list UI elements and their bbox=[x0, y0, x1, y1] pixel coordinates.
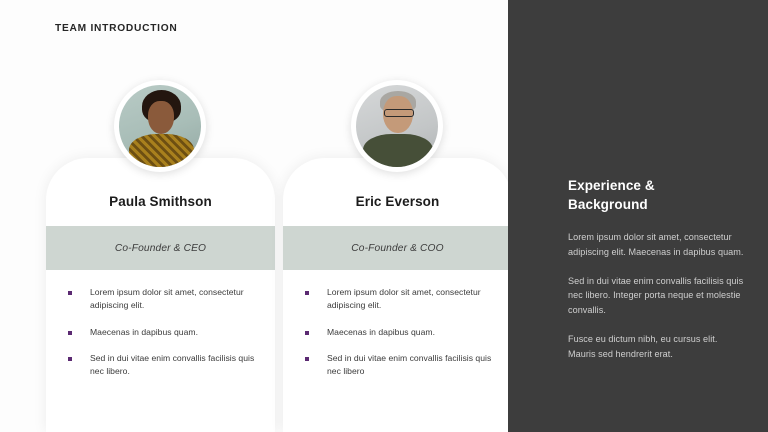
bullet-text: Maecenas in dapibus quam. bbox=[90, 326, 198, 339]
bullet-text: Maecenas in dapibus quam. bbox=[327, 326, 435, 339]
bullet-text: Lorem ipsum dolor sit amet, consectetur … bbox=[90, 286, 259, 313]
bullet-square-icon bbox=[68, 331, 72, 335]
member-card-1[interactable]: Paula Smithson Co-Founder & CEO Lorem ip… bbox=[46, 158, 275, 432]
member-bullet-list: Lorem ipsum dolor sit amet, consectetur … bbox=[64, 286, 259, 392]
list-item: Sed in dui vitae enim convallis facilisi… bbox=[301, 352, 496, 379]
panel-paragraph: Lorem ipsum dolor sit amet, consectetur … bbox=[568, 230, 746, 259]
list-item: Maecenas in dapibus quam. bbox=[64, 326, 259, 339]
list-item: Lorem ipsum dolor sit amet, consectetur … bbox=[64, 286, 259, 313]
slide-canvas: TEAM INTRODUCTION Paula Smithson Co-Foun… bbox=[0, 0, 768, 432]
bullet-square-icon bbox=[68, 357, 72, 361]
member-role-band: Co-Founder & CEO bbox=[46, 226, 275, 270]
bullet-square-icon bbox=[68, 291, 72, 295]
member-card-2[interactable]: Eric Everson Co-Founder & COO Lorem ipsu… bbox=[283, 158, 512, 432]
bullet-square-icon bbox=[305, 357, 309, 361]
member-role: Co-Founder & CEO bbox=[115, 243, 206, 254]
avatar-torso bbox=[129, 134, 195, 167]
list-item: Lorem ipsum dolor sit amet, consectetur … bbox=[301, 286, 496, 313]
panel-paragraph: Sed in dui vitae enim convallis facilisi… bbox=[568, 274, 746, 318]
experience-panel: Experience & Background Lorem ipsum dolo… bbox=[508, 0, 768, 432]
avatar-face bbox=[148, 101, 174, 134]
member-name: Paula Smithson bbox=[46, 194, 275, 209]
page-title: TEAM INTRODUCTION bbox=[55, 23, 178, 34]
bullet-square-icon bbox=[305, 331, 309, 335]
avatar-glasses-icon bbox=[384, 109, 414, 118]
bullet-text: Sed in dui vitae enim convallis facilisi… bbox=[90, 352, 259, 379]
avatar-eric-everson bbox=[351, 80, 443, 172]
list-item: Maecenas in dapibus quam. bbox=[301, 326, 496, 339]
member-role: Co-Founder & COO bbox=[351, 243, 443, 254]
list-item: Sed in dui vitae enim convallis facilisi… bbox=[64, 352, 259, 379]
bullet-text: Sed in dui vitae enim convallis facilisi… bbox=[327, 352, 496, 379]
member-role-band: Co-Founder & COO bbox=[283, 226, 512, 270]
panel-title: Experience & Background bbox=[568, 176, 746, 214]
bullet-square-icon bbox=[305, 291, 309, 295]
avatar-photo bbox=[119, 85, 201, 167]
member-bullet-list: Lorem ipsum dolor sit amet, consectetur … bbox=[301, 286, 496, 392]
panel-paragraph: Fusce eu dictum nibh, eu cursus elit. Ma… bbox=[568, 332, 746, 361]
avatar-photo bbox=[356, 85, 438, 167]
avatar-torso bbox=[363, 134, 434, 167]
bullet-text: Lorem ipsum dolor sit amet, consectetur … bbox=[327, 286, 496, 313]
avatar-paula-smithson bbox=[114, 80, 206, 172]
member-name: Eric Everson bbox=[283, 194, 512, 209]
team-cards: Paula Smithson Co-Founder & CEO Lorem ip… bbox=[46, 158, 512, 432]
